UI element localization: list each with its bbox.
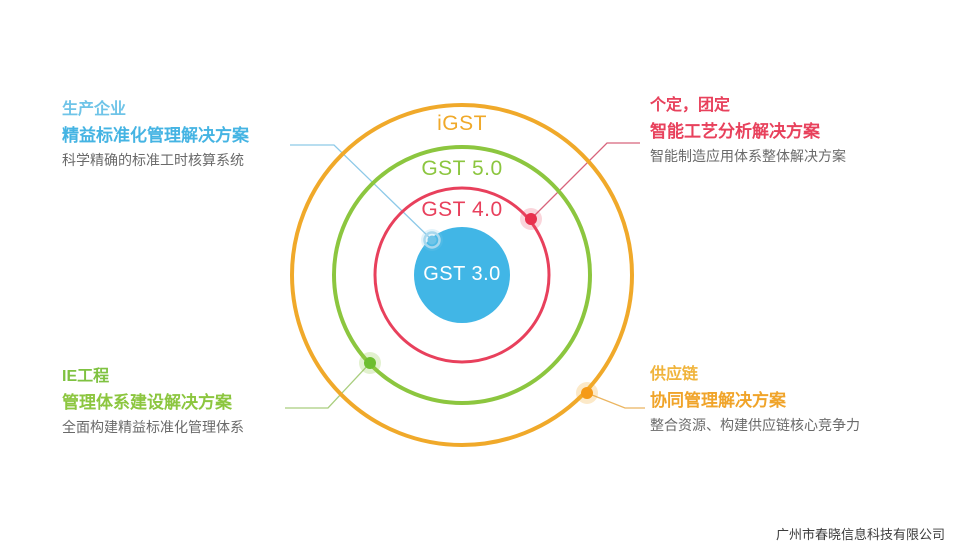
callout-process-desc: 智能制造应用体系整体解决方案: [650, 145, 846, 169]
ring-label-gst50: GST 5.0: [421, 157, 502, 181]
callout-ie[interactable]: IE工程 管理体系建设解决方案 全面构建精益标准化管理体系: [62, 365, 244, 440]
callout-ie-title: 管理体系建设解决方案: [62, 390, 244, 416]
node-marker-ie[interactable]: [359, 352, 381, 374]
leader-line-ie: [285, 363, 370, 408]
ring-label-gst30: GST 3.0: [423, 263, 501, 286]
node-marker-process[interactable]: [520, 208, 542, 230]
callout-supply-kicker: 供应链: [650, 363, 860, 388]
node-marker-production[interactable]: [421, 229, 443, 251]
callout-ie-desc: 全面构建精益标准化管理体系: [62, 416, 244, 440]
callout-process-title: 智能工艺分析解决方案: [650, 119, 846, 145]
callout-supply-title: 协同管理解决方案: [650, 388, 860, 414]
callout-process[interactable]: 个定，团定 智能工艺分析解决方案 智能制造应用体系整体解决方案: [650, 94, 846, 169]
callout-supply[interactable]: 供应链 协同管理解决方案 整合资源、构建供应链核心竞争力: [650, 363, 860, 438]
callout-process-kicker: 个定，团定: [650, 94, 846, 119]
callout-production-title: 精益标准化管理解决方案: [62, 123, 249, 149]
callout-ie-kicker: IE工程: [62, 365, 244, 390]
callout-production[interactable]: 生产企业 精益标准化管理解决方案 科学精确的标准工时核算系统: [62, 98, 249, 173]
callout-supply-desc: 整合资源、构建供应链核心竞争力: [650, 414, 860, 438]
ring-label-gst40: GST 4.0: [421, 198, 502, 222]
ring-label-igst: iGST: [437, 112, 487, 136]
diagram-canvas: iGST GST 5.0 GST 4.0 GST 3.0 生产企业 精益标准化管…: [0, 0, 963, 555]
callout-production-kicker: 生产企业: [62, 98, 249, 123]
callout-production-desc: 科学精确的标准工时核算系统: [62, 149, 249, 173]
footer-company-name: 广州市春晓信息科技有限公司: [776, 524, 945, 543]
node-marker-supply[interactable]: [576, 382, 598, 404]
